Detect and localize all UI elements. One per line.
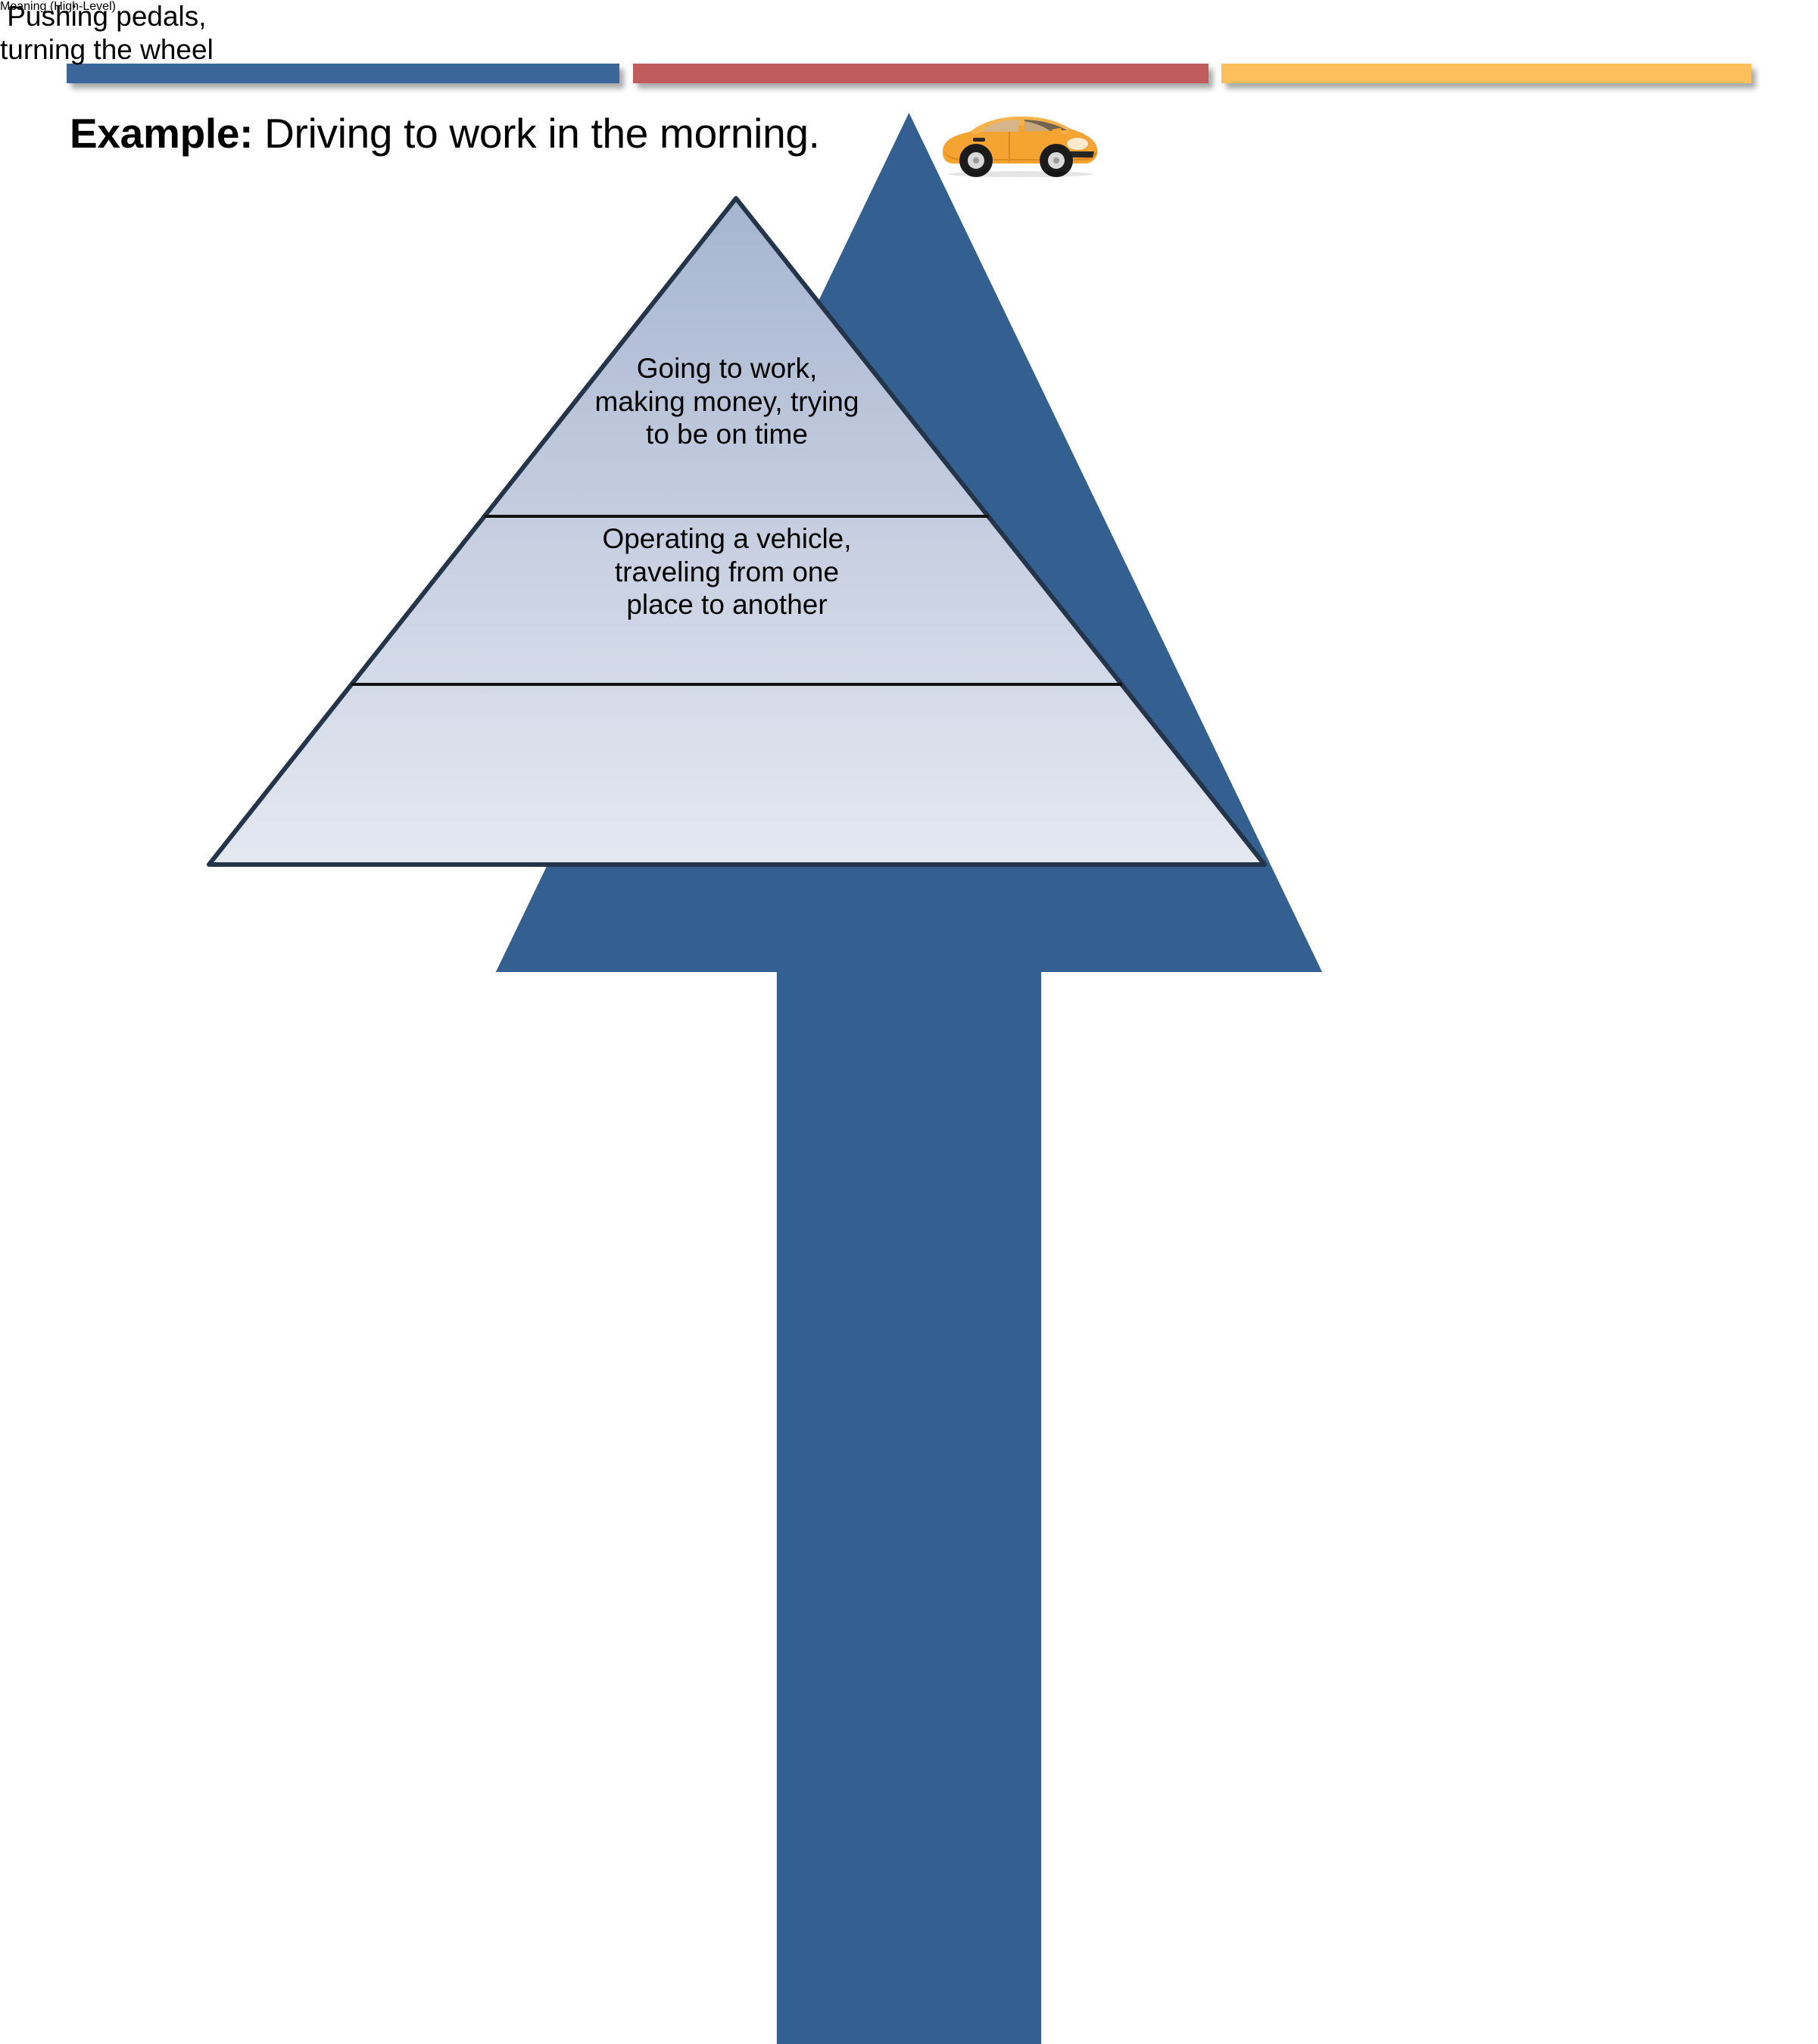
pyramid-tier-top-label: Going to work, making money, trying to b… [522,352,931,451]
top-accent-bar-red [633,64,1208,83]
pyramid-tier-bottom-label: Pushing pedals, turning the wheel [0,0,214,66]
top-accent-bar-blue [67,64,619,83]
pyramid-tier-middle-label: Operating a vehicle, traveling from one … [515,522,939,622]
slide-title-rest: Driving to work in the morning. [253,110,819,157]
top-accent-bar-yellow [1221,64,1751,83]
slide-title-lead: Example: [70,110,253,157]
car-icon [937,104,1102,180]
slide-title: Example: Driving to work in the morning. [70,112,820,156]
axis-label-high-level: Meaning (High-Level) [0,0,1818,14]
